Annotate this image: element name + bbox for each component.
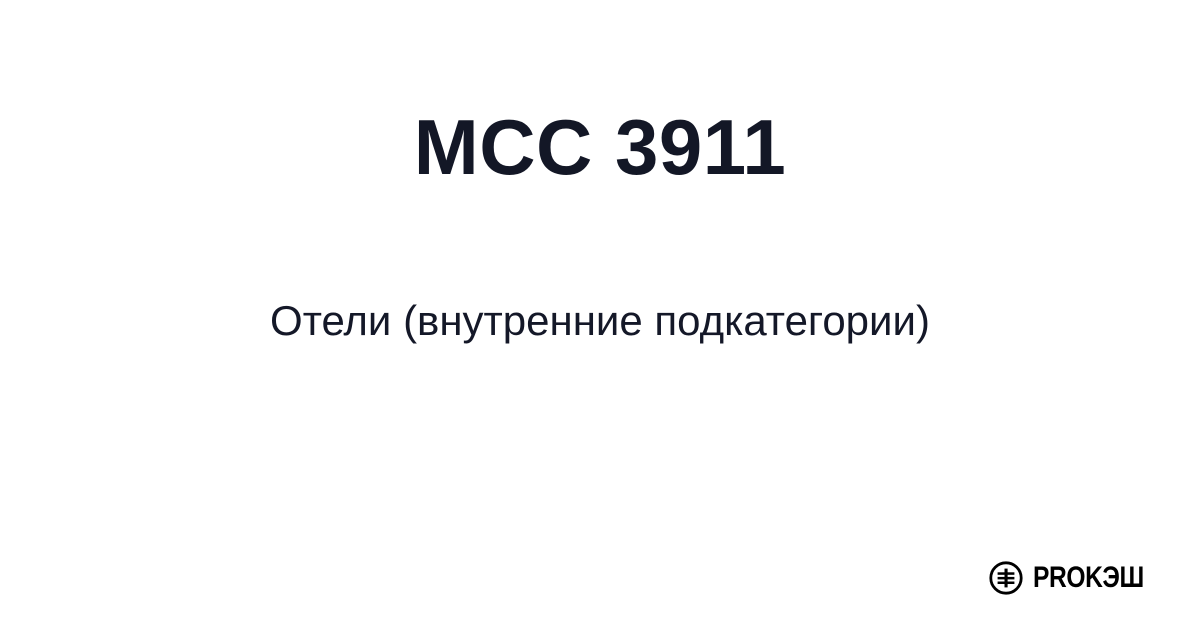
hero-section: MCC 3911 Отели (внутренние подкатегории)	[0, 0, 1200, 520]
brand-logo[interactable]: PROKЭШ	[988, 560, 1168, 596]
page-title: MCC 3911	[374, 108, 827, 186]
page-subtitle: Отели (внутренние подкатегории)	[230, 296, 970, 346]
brand-name: PROKЭШ	[1033, 563, 1144, 593]
og-image-card: MCC 3911 Отели (внутренние подкатегории)…	[0, 0, 1200, 630]
currency-coin-icon	[988, 560, 1024, 596]
